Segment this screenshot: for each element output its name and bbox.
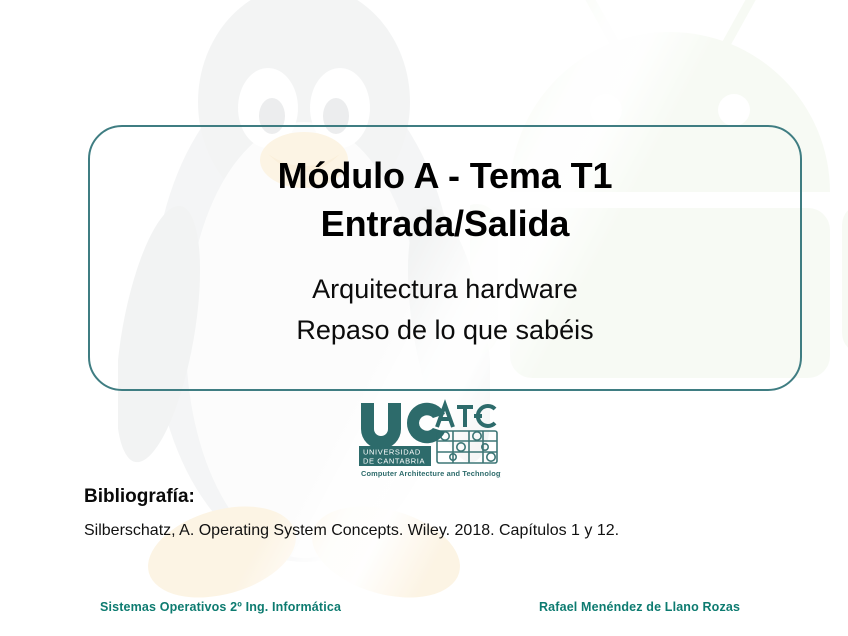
uc-atc-logo: UNIVERSIDAD DE CANTABRIA Computer A xyxy=(357,399,501,479)
page-subtitle-line-1: Arquitectura hardware xyxy=(296,269,593,310)
logo-uc-mark: UNIVERSIDAD DE CANTABRIA xyxy=(359,403,445,466)
slide-footer: Sistemas Operativos 2º Ing. Informática … xyxy=(0,600,848,622)
footer-course-label: Sistemas Operativos 2º Ing. Informática xyxy=(100,600,341,614)
title-block: Módulo A - Tema T1 Entrada/Salida Arquit… xyxy=(88,125,802,391)
logo-circuit-motif xyxy=(437,431,497,463)
slide-canvas: Módulo A - Tema T1 Entrada/Salida Arquit… xyxy=(0,0,848,636)
bibliography-heading: Bibliografía: xyxy=(84,484,784,510)
page-subtitle-line-2: Repaso de lo que sabéis xyxy=(296,310,593,351)
logo-atc-mark xyxy=(437,405,495,427)
logo-university-line-1: UNIVERSIDAD xyxy=(363,448,421,457)
logo-caption: Computer Architecture and Technology xyxy=(361,469,501,478)
subtitle-group: Arquitectura hardware Repaso de lo que s… xyxy=(296,269,593,351)
footer-author-label: Rafael Menéndez de Llano Rozas xyxy=(539,600,740,614)
bibliography-entry: Silberschatz, A. Operating System Concep… xyxy=(84,520,784,542)
logo-university-line-2: DE CANTABRIA xyxy=(363,457,425,466)
page-title-line-2: Entrada/Salida xyxy=(321,200,570,248)
bibliography-section: Bibliografía: Silberschatz, A. Operating… xyxy=(84,484,784,542)
page-title-line-1: Módulo A - Tema T1 xyxy=(278,152,613,200)
